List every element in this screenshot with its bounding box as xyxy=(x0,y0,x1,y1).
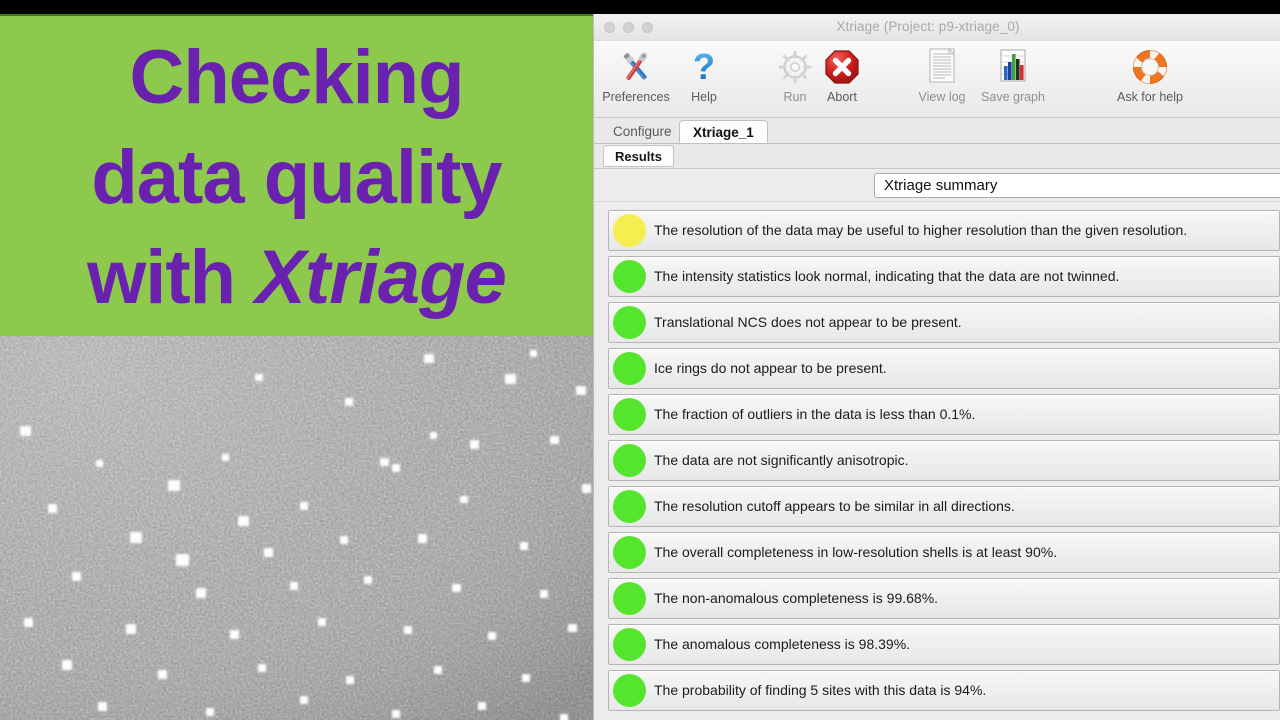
window-title: Xtriage (Project: p9-xtriage_0) xyxy=(594,19,1280,34)
save-graph-button[interactable]: Save graph xyxy=(975,45,1051,104)
results-list: The resolution of the data may be useful… xyxy=(594,202,1280,720)
table-row[interactable]: The fraction of outliers in the data is … xyxy=(608,394,1280,435)
sub-tabs: Results xyxy=(594,144,1280,169)
tab-xtriage-1[interactable]: Xtriage_1 xyxy=(679,120,768,143)
diffraction-pattern-graphic xyxy=(0,336,593,720)
summary-dropdown[interactable]: Xtriage summary xyxy=(874,173,1280,198)
preferences-button[interactable]: Preferences xyxy=(598,45,674,104)
bar-chart-icon xyxy=(975,45,1051,89)
status-badge xyxy=(613,444,646,477)
diffraction-image xyxy=(0,336,593,720)
xtriage-window: Xtriage (Project: p9-xtriage_0) xyxy=(593,14,1280,720)
table-row[interactable]: The non-anomalous completeness is 99.68%… xyxy=(608,578,1280,619)
save-graph-label: Save graph xyxy=(975,90,1051,104)
status-badge xyxy=(613,214,646,247)
status-badge xyxy=(613,306,646,339)
table-row[interactable]: The overall completeness in low-resoluti… xyxy=(608,532,1280,573)
result-message: The resolution of the data may be useful… xyxy=(654,211,1271,250)
svg-text:?: ? xyxy=(693,47,715,87)
title-line-3: with Xtriage xyxy=(0,228,593,328)
result-message: The resolution cutoff appears to be simi… xyxy=(654,487,1271,526)
main-tabs: Configure Xtriage_1 xyxy=(594,118,1280,144)
table-row[interactable]: The data are not significantly anisotrop… xyxy=(608,440,1280,481)
toolbar: Preferences ? xyxy=(594,41,1280,118)
result-message: The anomalous completeness is 98.39%. xyxy=(654,625,1271,664)
tab-configure[interactable]: Configure xyxy=(600,120,685,143)
title-line-1: Checking xyxy=(0,28,593,128)
status-badge xyxy=(613,582,646,615)
result-message: The non-anomalous completeness is 99.68%… xyxy=(654,579,1271,618)
title-line-2: data quality xyxy=(0,128,593,228)
status-badge xyxy=(613,490,646,523)
ask-for-help-button[interactable]: Ask for help xyxy=(1112,45,1188,104)
table-row[interactable]: The probability of finding 5 sites with … xyxy=(608,670,1280,711)
document-icon xyxy=(904,45,980,89)
view-log-label: View log xyxy=(904,90,980,104)
result-message: The data are not significantly anisotrop… xyxy=(654,441,1271,480)
table-row[interactable]: The resolution cutoff appears to be simi… xyxy=(608,486,1280,527)
slide-panel: Checking data quality with Xtriage xyxy=(0,14,593,720)
ask-for-help-label: Ask for help xyxy=(1112,90,1188,104)
table-row[interactable]: Ice rings do not appear to be present. xyxy=(608,348,1280,389)
view-log-button[interactable]: View log xyxy=(904,45,980,104)
abort-button[interactable]: Abort xyxy=(804,45,880,104)
title-card: Checking data quality with Xtriage xyxy=(0,14,593,336)
status-badge xyxy=(613,674,646,707)
tab-results[interactable]: Results xyxy=(603,145,674,167)
title-line-3-prefix: with xyxy=(87,235,255,320)
result-message: The probability of finding 5 sites with … xyxy=(654,671,1271,710)
table-row[interactable]: Translational NCS does not appear to be … xyxy=(608,302,1280,343)
page-title: Checking data quality with Xtriage xyxy=(0,28,593,328)
window-titlebar: Xtriage (Project: p9-xtriage_0) xyxy=(594,14,1280,41)
letterbox-top-bar xyxy=(0,0,1280,14)
summary-chooser-row: Xtriage summary xyxy=(594,169,1280,202)
question-icon: ? xyxy=(666,45,742,89)
preferences-label: Preferences xyxy=(598,90,674,104)
stop-x-icon xyxy=(804,45,880,89)
status-badge xyxy=(613,398,646,431)
abort-label: Abort xyxy=(804,90,880,104)
screenshot-root: Checking data quality with Xtriage xyxy=(0,0,1280,720)
help-button[interactable]: ? Help xyxy=(666,45,742,104)
table-row[interactable]: The intensity statistics look normal, in… xyxy=(608,256,1280,297)
result-message: The overall completeness in low-resoluti… xyxy=(654,533,1271,572)
result-message: Ice rings do not appear to be present. xyxy=(654,349,1271,388)
table-row[interactable]: The resolution of the data may be useful… xyxy=(608,210,1280,251)
status-badge xyxy=(613,352,646,385)
tools-icon xyxy=(598,45,674,89)
status-badge xyxy=(613,260,646,293)
lifering-icon xyxy=(1112,45,1188,89)
table-row[interactable]: The anomalous completeness is 98.39%. xyxy=(608,624,1280,665)
result-message: Translational NCS does not appear to be … xyxy=(654,303,1271,342)
help-label: Help xyxy=(666,90,742,104)
result-message: The fraction of outliers in the data is … xyxy=(654,395,1271,434)
status-badge xyxy=(613,628,646,661)
title-line-3-italic: Xtriage xyxy=(255,235,506,320)
status-badge xyxy=(613,536,646,569)
result-message: The intensity statistics look normal, in… xyxy=(654,257,1271,296)
